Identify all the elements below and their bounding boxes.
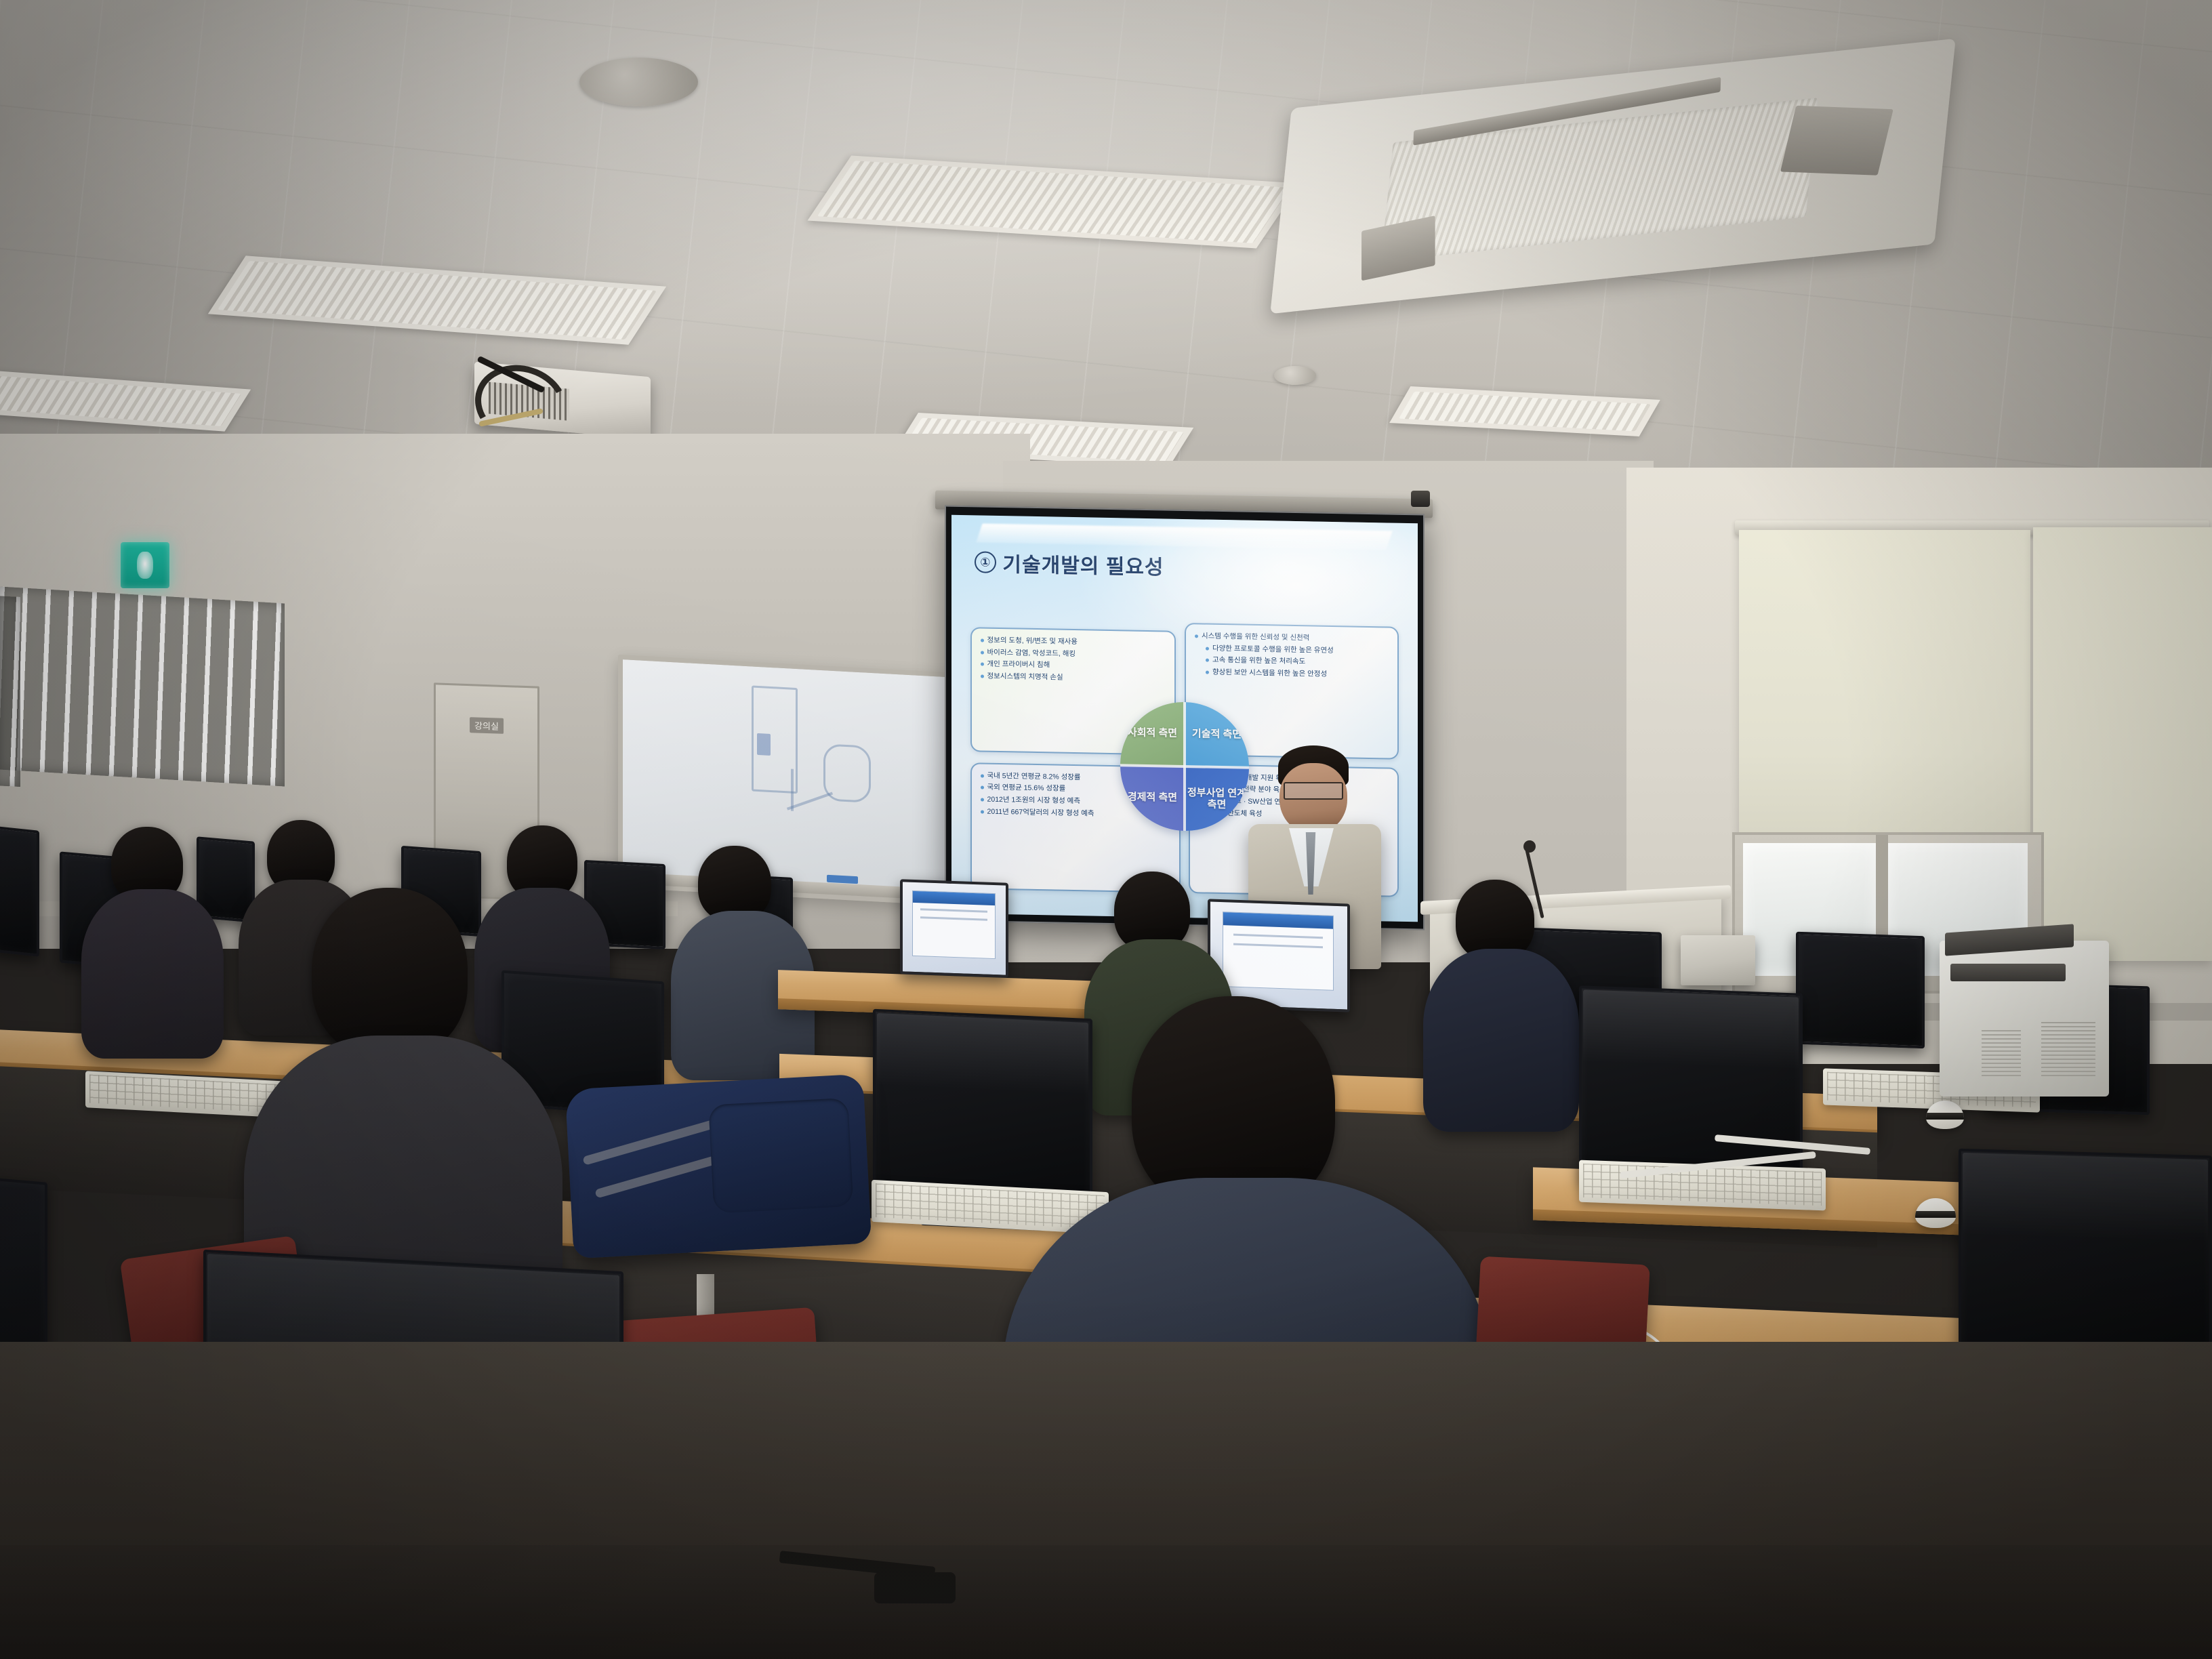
pie-label-economic: 경제적 측면 [1128, 792, 1177, 804]
pie-label-social: 사회적 측면 [1128, 727, 1177, 740]
mouse-stripe [1926, 1113, 1964, 1119]
smoke-detector-icon [579, 58, 698, 106]
window-titlebar [1223, 912, 1333, 929]
monitor-screen [900, 879, 1008, 978]
mouse-stripe [1915, 1211, 1956, 1218]
student-mid-center [671, 846, 815, 1069]
window-content-line [1233, 943, 1324, 949]
multifunction-printer[interactable] [1940, 941, 2109, 1097]
screen-glint [1583, 989, 1799, 1069]
monitor[interactable] [900, 879, 1008, 978]
slide-title-text: 기술개발의 필요성 [1002, 548, 1164, 580]
presenter-glasses-icon [1284, 782, 1343, 800]
pie-quadrant-government: 정부사업 연계측면 [1185, 766, 1249, 832]
monitor-screen [1796, 932, 1925, 1049]
monitor[interactable] [0, 825, 39, 957]
whiteboard-marker [827, 875, 858, 884]
slide-title: ① 기술개발의 필요성 [975, 547, 1164, 580]
list-item: 향상된 보안 시스템을 위한 높은 안정성 [1205, 668, 1389, 681]
list-item: 정보시스템의 치명적 손실 [980, 672, 1167, 685]
slide-light-bar [977, 523, 1393, 550]
pie-label-technical: 기술적 측면 [1192, 729, 1242, 741]
list-item: 정보의 도청, 위/변조 및 재사용 [980, 635, 1167, 649]
window-content-line [920, 916, 988, 920]
printer-vents-icon [1982, 1030, 2021, 1078]
window-panel [912, 890, 996, 959]
emergency-exit-sign-icon [121, 542, 169, 588]
pie-quadrant-technical: 기술적 측면 [1185, 702, 1249, 768]
list-item: 개인 프라이버시 침해 [980, 659, 1167, 673]
floor-foreground [0, 1545, 2212, 1659]
door-sign: 강의실 [470, 717, 504, 734]
student-back-row-left [81, 827, 224, 1050]
monitor[interactable] [1796, 932, 1925, 1049]
microphone-icon [1523, 840, 1536, 853]
smoke-detector-icon [1274, 366, 1316, 385]
ac-vane [1780, 106, 1893, 176]
pie-quadrant-economic: 경제적 측면 [1120, 765, 1185, 831]
roller-blind-left[interactable] [1739, 530, 2030, 848]
window-titlebar [913, 891, 996, 905]
bullet-list: 시스템 수행을 위한 신뢰성 및 신천력 다양한 프로토콜 수행을 위한 높은 … [1194, 631, 1389, 681]
screen-glint [1963, 1153, 2208, 1242]
printer-paper-slot [1950, 964, 2066, 981]
window-panel [1223, 912, 1334, 991]
backpack[interactable] [565, 1074, 872, 1259]
student-torso [81, 889, 224, 1059]
backpack-pocket [708, 1098, 853, 1214]
window-content-line [1233, 933, 1324, 939]
podium-pc [1681, 935, 1755, 985]
screen-camera-icon [1411, 491, 1430, 507]
wall-louver-panel [0, 587, 285, 787]
whiteboard-sketch [787, 792, 833, 811]
student-head [312, 888, 468, 1057]
light-tubes [1399, 392, 1651, 432]
exit-runner-icon [137, 552, 153, 579]
monitor-screen [0, 825, 39, 957]
classroom-photo-scene: 강의실 ① 기술개발의 필요성 정보의 도청, [0, 0, 2212, 1659]
roller-blind-right[interactable] [2033, 527, 2212, 961]
list-item: 고속 통신을 위한 높은 처리속도 [1205, 655, 1389, 669]
list-item: 시스템 수행을 위한 신뢰성 및 신천력 [1194, 631, 1389, 644]
window-content-line [920, 909, 988, 913]
slide-center-pie: 사회적 측면 기술적 측면 경제적 측면 정부사업 연계측면 [1120, 701, 1249, 832]
wall-louver-panel [0, 596, 20, 787]
list-item: 바이러스 감염, 악성코드, 해킹 [980, 647, 1167, 661]
slide-number: ① [975, 551, 996, 573]
bullet-list: 정보의 도청, 위/변조 및 재사용 바이러스 감염, 악성코드, 해킹 개인 … [980, 635, 1167, 685]
floor-cable [874, 1572, 956, 1603]
pie-label-government: 정부사업 연계측면 [1185, 787, 1249, 811]
whiteboard-sketch [757, 733, 771, 756]
printer-vents-icon [2041, 1022, 2095, 1079]
pie-quadrant-social: 사회적 측면 [1120, 701, 1185, 766]
whiteboard-sketch [791, 769, 794, 811]
list-item: 다양한 프로토콜 수행을 위한 높은 유연성 [1205, 643, 1389, 657]
